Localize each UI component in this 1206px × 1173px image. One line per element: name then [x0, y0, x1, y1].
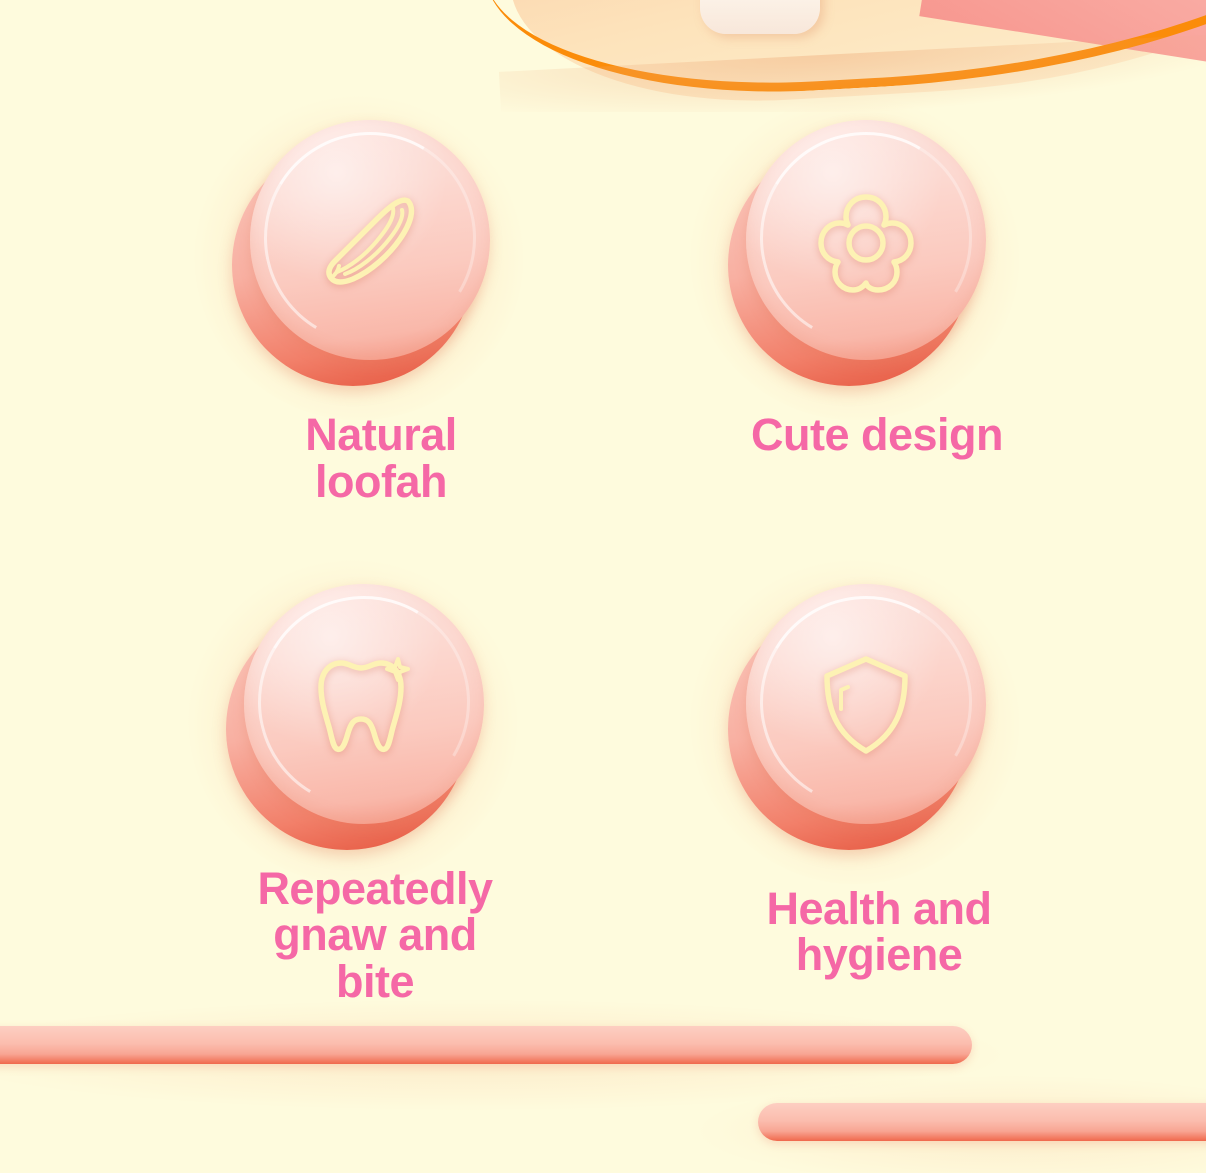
feature-health-and-hygiene[interactable]: Health and hygiene: [724, 584, 1044, 1006]
tooth-sparkle-icon: [299, 639, 429, 769]
feature-repeatedly-gnaw-and-bite[interactable]: Repeatedly gnaw and bite: [222, 584, 506, 1006]
photo-pink-wedge: [919, 0, 1206, 82]
badge-front-disc: [244, 584, 484, 824]
feature-row-2: Repeatedly gnaw and bite: [0, 584, 1206, 1006]
loofah-icon: [305, 175, 435, 305]
feature-label: Natural loofah: [250, 412, 512, 506]
badge-front-disc: [746, 584, 986, 824]
feature-grid: Natural loofah: [0, 120, 1206, 1006]
product-feature-infographic: Natural loofah: [0, 0, 1206, 1173]
badge-front-disc: [250, 120, 490, 360]
badge-health-and-hygiene[interactable]: [724, 584, 986, 846]
badge-cute-design[interactable]: [724, 120, 986, 382]
feature-label: Health and hygiene: [714, 886, 1044, 980]
feature-cute-design[interactable]: Cute design: [724, 120, 1008, 506]
flower-icon: [801, 175, 931, 305]
shield-icon: [801, 639, 931, 769]
feature-label: Repeatedly gnaw and bite: [244, 866, 506, 1006]
decorative-bar-upper: [0, 1026, 972, 1064]
feature-label: Cute design: [746, 412, 1008, 459]
product-photo-sliver: [0, 0, 1206, 112]
feature-natural-loofah[interactable]: Natural loofah: [228, 120, 512, 506]
badge-front-disc: [746, 120, 986, 360]
badge-natural-loofah[interactable]: [228, 120, 490, 382]
feature-row-1: Natural loofah: [0, 120, 1206, 506]
badge-repeatedly-gnaw-and-bite[interactable]: [222, 584, 484, 846]
decorative-bar-lower: [758, 1103, 1206, 1141]
photo-white-object: [700, 0, 820, 34]
